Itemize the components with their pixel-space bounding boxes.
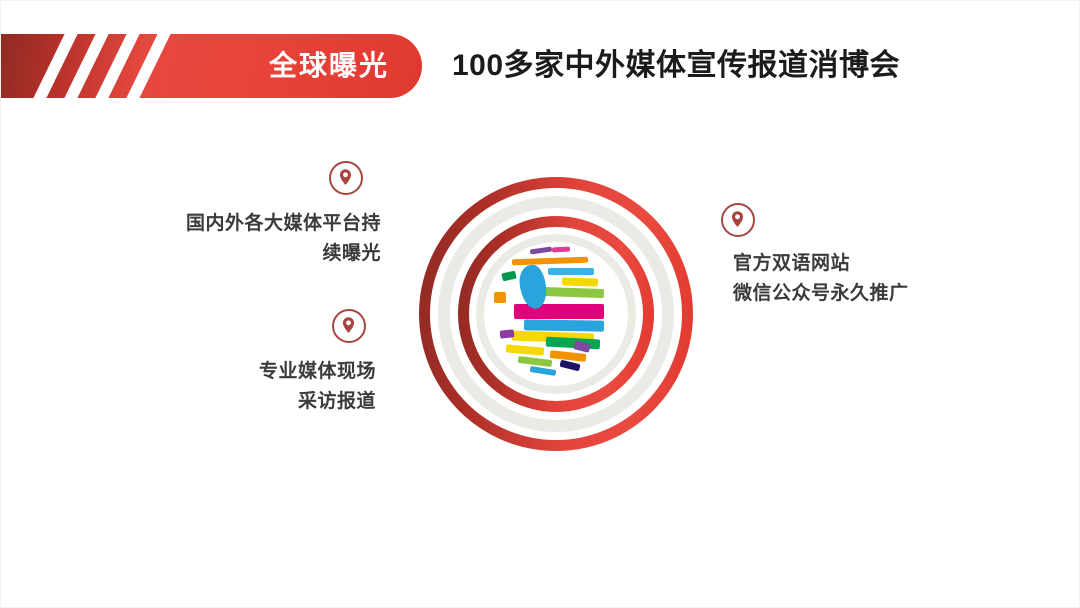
callout-label: 专业媒体现场 采访报道 (201, 357, 376, 417)
globe-bar (542, 287, 604, 298)
globe-bar (506, 344, 545, 355)
globe-logo (484, 242, 628, 386)
slide-header: 全球曝光 100多家中外媒体宣传报道消博会 (1, 34, 1080, 98)
globe-bar (494, 292, 506, 303)
location-pin-icon (721, 203, 755, 237)
globe-bar (559, 360, 580, 372)
globe-bar (500, 329, 515, 338)
globe-bar (524, 319, 604, 331)
globe-bar (530, 246, 552, 254)
globe-bar (514, 304, 604, 319)
globe-bar (548, 268, 594, 275)
globe-bar (530, 366, 557, 376)
banner-label: 全球曝光 (269, 34, 389, 98)
globe-bar (518, 356, 553, 367)
header-banner-shape: 全球曝光 (1, 34, 422, 98)
callout-label: 国内外各大媒体平台持 续曝光 (131, 209, 381, 269)
page-title: 100多家中外媒体宣传报道消博会 (452, 34, 900, 98)
globe-bar (550, 350, 587, 362)
location-pin-icon (332, 309, 366, 343)
slide-canvas: 全球曝光 100多家中外媒体宣传报道消博会 国内外各大媒体平台持 续曝光 (0, 0, 1080, 608)
globe-bar (512, 257, 588, 266)
globe-bar (501, 271, 516, 282)
globe-bar (552, 247, 570, 253)
consumer-expo-globe-emblem (411, 169, 701, 459)
callout-label: 官方双语网站 微信公众号永久推广 (733, 249, 1013, 309)
location-pin-icon (329, 161, 363, 195)
globe-bar (562, 277, 598, 286)
